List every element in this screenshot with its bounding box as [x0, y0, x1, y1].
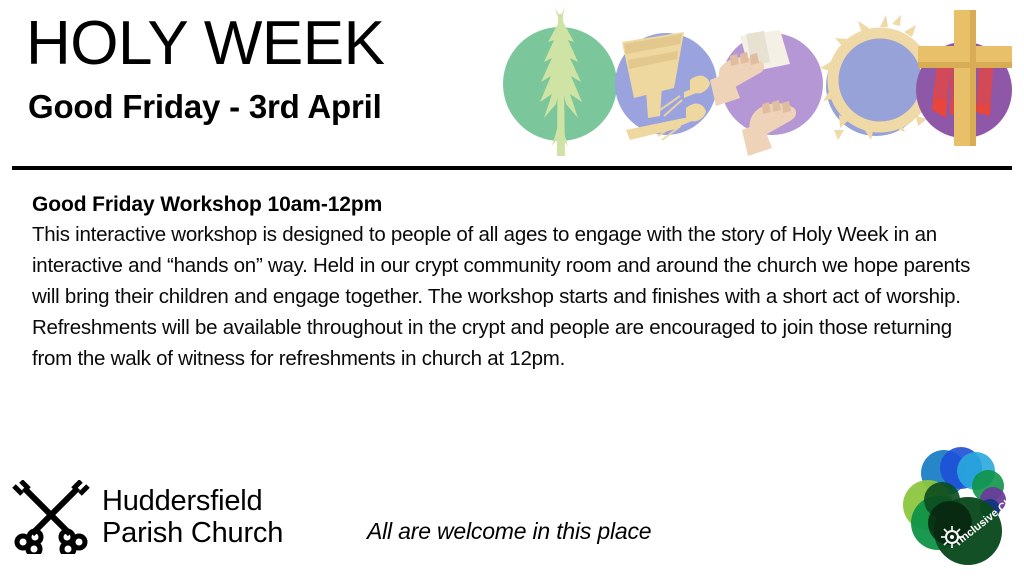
header-divider: [12, 166, 1012, 170]
workshop-heading: Good Friday Workshop 10am-12pm: [32, 193, 992, 217]
title-block: HOLY WEEK Good Friday - 3rd April: [26, 12, 384, 126]
page-subtitle: Good Friday - 3rd April: [28, 89, 384, 125]
inclusive-church-logo: Inclusive Church: [898, 443, 1020, 573]
washing-feet-icon: [710, 30, 823, 156]
page-title: HOLY WEEK: [26, 12, 384, 75]
welcome-tagline: All are welcome in this place: [367, 518, 651, 545]
church-name: Huddersfield Parish Church: [102, 485, 283, 550]
cross-icon: [916, 10, 1012, 146]
church-name-line1: Huddersfield: [102, 485, 283, 517]
footer: Huddersfield Parish Church All are welco…: [0, 455, 1024, 576]
workshop-description: This interactive workshop is designed to…: [32, 220, 984, 375]
holy-week-icon-strip: [494, 6, 1018, 162]
church-name-line2: Parish Church: [102, 517, 283, 549]
poster-canvas: HOLY WEEK Good Friday - 3rd April: [0, 0, 1024, 576]
crossed-keys-icon: [12, 480, 90, 554]
church-logo: Huddersfield Parish Church: [12, 480, 283, 554]
header: HOLY WEEK Good Friday - 3rd April: [0, 0, 1024, 170]
palm-leaf-icon: [503, 8, 617, 156]
chalice-wheat-icon: [615, 32, 717, 140]
main-content: Good Friday Workshop 10am-12pm This inte…: [32, 193, 992, 375]
